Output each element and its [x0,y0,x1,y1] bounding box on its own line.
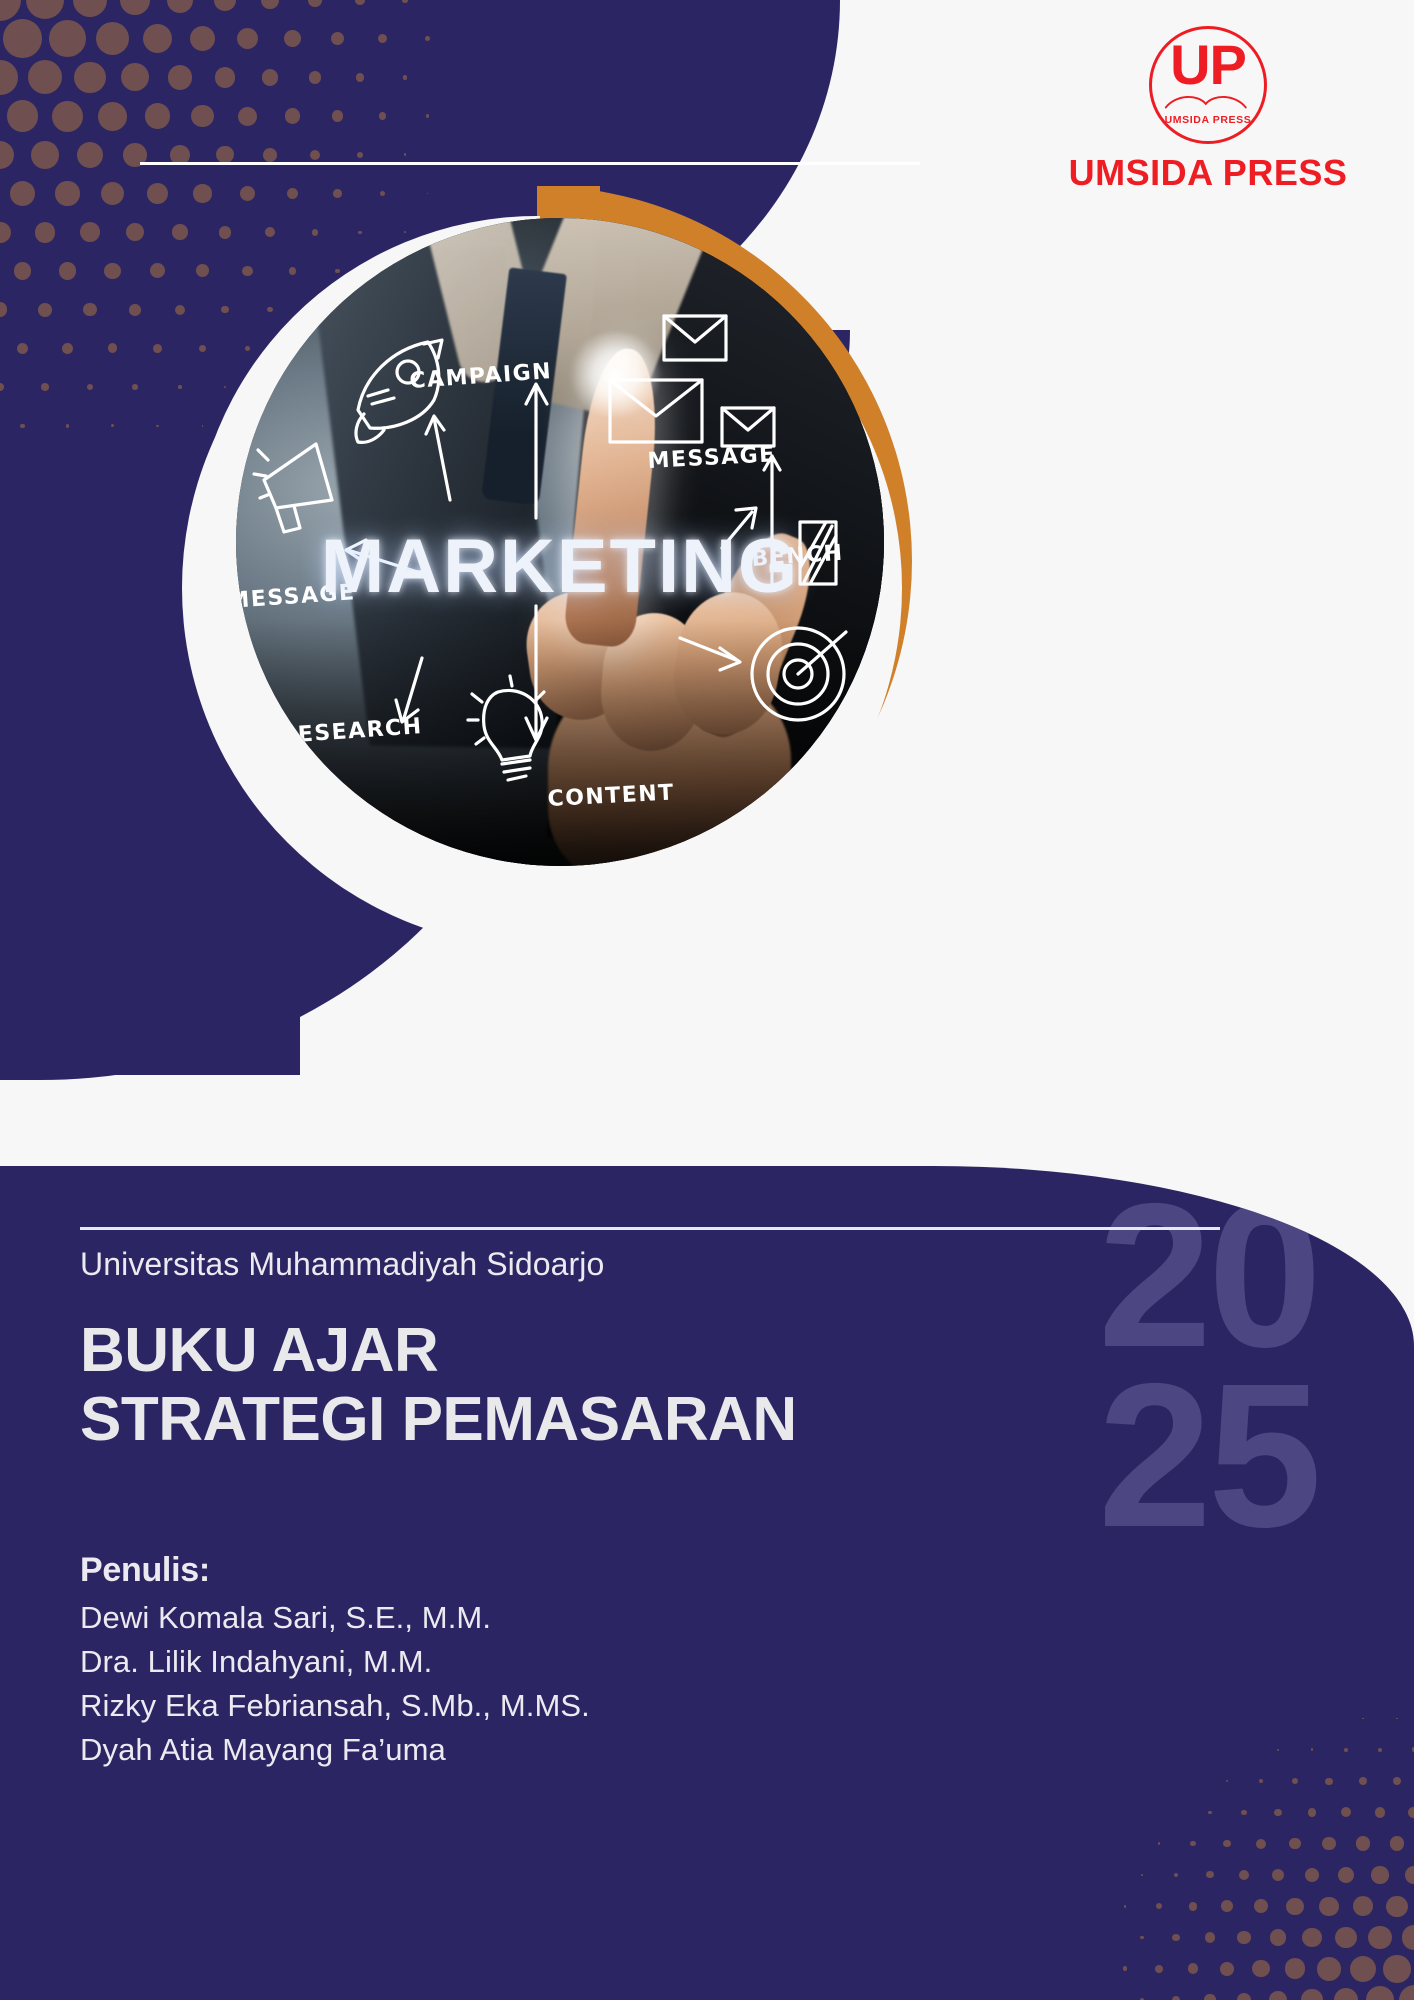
orange-arc-notch-top [540,186,600,220]
author-name: Rizky Eka Febriansah, S.Mb., M.MS. [80,1684,820,1728]
marketing-headline: MARKETING [236,523,884,610]
authors-label: Penulis: [80,1551,820,1590]
label-message-right: MESSAGE [647,442,776,474]
logo-sub-text: UMSIDA PRESS [1152,114,1264,126]
arrow-down-research [396,658,422,722]
author-name: Dra. Lilik Indahyani, M.M. [80,1640,820,1684]
label-campaign: CAMPAIGN [409,359,553,394]
title-line-2: STRATEGI PEMASARAN [80,1385,797,1454]
cover-photo: CAMPAIGN MESSAGE MESSAGE BENCH RESEARCH … [236,218,884,866]
author-name: Dyah Atia Mayang Fa’uma [80,1728,820,1772]
cover-photo-circle: CAMPAIGN MESSAGE MESSAGE BENCH RESEARCH … [236,218,884,866]
institution-name: Universitas Muhammadiyah Sidoarjo [80,1246,604,1283]
label-content: CONTENT [547,780,675,812]
publisher-logo: UP UMSIDA PRESS UMSIDA PRESS [1058,26,1358,194]
year-top: 20 [1098,1186,1318,1366]
arrow-down-center [526,606,547,740]
halftone-dots-bottom-right [1114,1700,1414,2000]
label-research: RESEARCH [279,714,424,749]
title-line-1: BUKU AJAR [80,1316,797,1385]
authors-block: Penulis: Dewi Komala Sari, S.E., M.M. Dr… [80,1551,820,1772]
author-name: Dewi Komala Sari, S.E., M.M. [80,1596,820,1640]
arrow-up-center [526,384,547,518]
year-watermark: 20 25 [1098,1186,1318,1547]
envelope-icon-top [664,316,726,360]
arrow-right-target [680,638,740,670]
logo-circle-mark: UP UMSIDA PRESS [1149,26,1267,144]
year-bottom: 25 [1098,1366,1318,1546]
lightbulb-icon [468,676,544,780]
open-book-icon [1164,95,1248,111]
megaphone-icon [254,444,332,532]
bottom-divider-rule [80,1227,1220,1230]
envelope-icon-large [610,380,702,442]
top-divider-rule [140,162,920,165]
page-title: BUKU AJAR STRATEGI PEMASARAN [80,1316,797,1455]
publisher-name: UMSIDA PRESS [1058,152,1358,194]
book-cover: CAMPAIGN MESSAGE MESSAGE BENCH RESEARCH … [0,0,1414,2000]
logo-up-letters: UP [1152,37,1264,93]
envelope-icon-small [722,408,774,446]
target-icon [752,628,846,720]
arrow-up-campaign [426,416,450,500]
bottom-navy-panel: 20 25 BUKU AJAR STRATEGI PEMASARAN Penul… [0,1166,1414,2000]
